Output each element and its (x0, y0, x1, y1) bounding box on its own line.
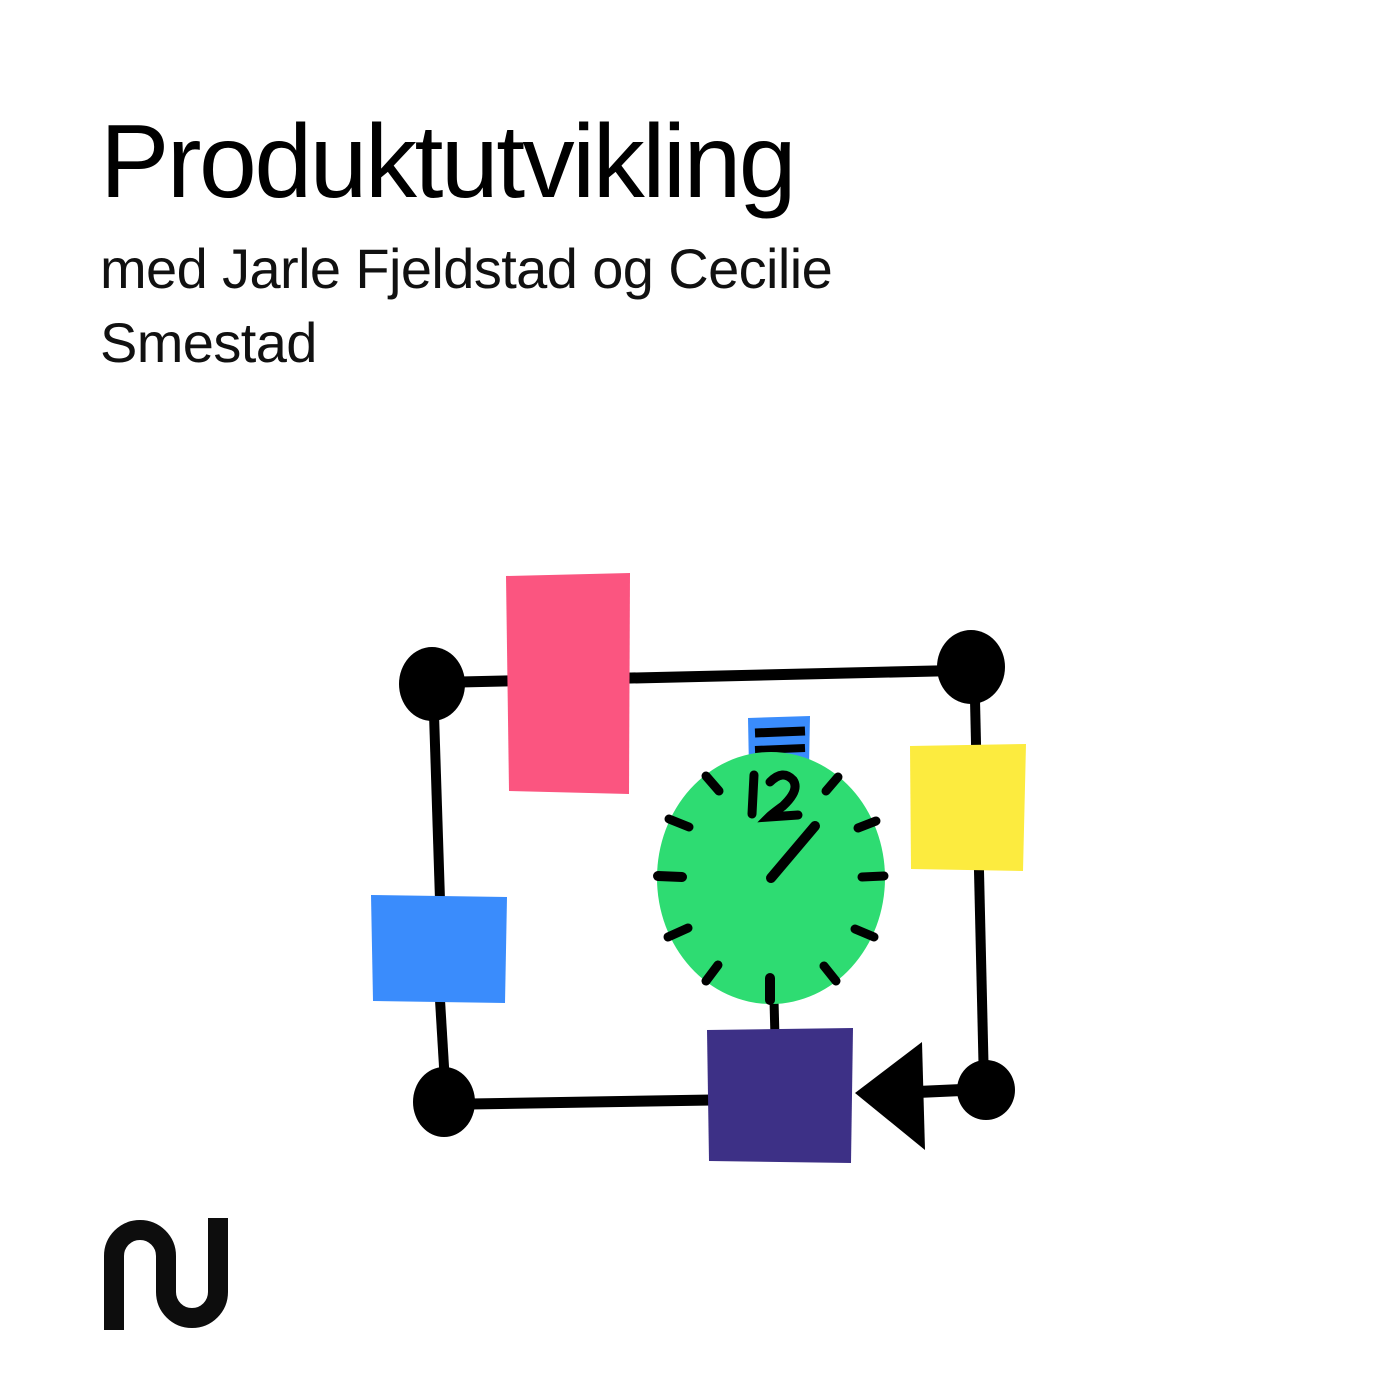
podcast-cover: Produktutvikling med Jarle Fjeldstad og … (0, 0, 1400, 1400)
cover-subtitle: med Jarle Fjeldstad og Cecilie Smestad (100, 232, 1060, 380)
pink-rectangle (506, 573, 630, 794)
edge-top-left-to-blue-square (434, 714, 440, 900)
yellow-rectangle (910, 744, 1026, 871)
node-bottom-left (413, 1067, 475, 1137)
abstract-network-clock-illustration (340, 540, 1060, 1200)
purple-square (707, 1028, 853, 1163)
clock-crown-bar-bottom (755, 748, 805, 750)
brand-logo (100, 1208, 230, 1340)
nu-monogram-path (114, 1218, 218, 1330)
cover-text-block: Produktutvikling med Jarle Fjeldstad og … (100, 106, 1100, 380)
clock-crown-bar-top (755, 731, 805, 733)
artwork-container (340, 540, 1060, 1200)
node-top-left (399, 647, 465, 721)
node-bottom-right (957, 1060, 1015, 1120)
left-pointing-arrowhead (855, 1042, 925, 1150)
page-title: Produktutvikling (100, 106, 1100, 218)
blue-square (371, 895, 507, 1003)
nu-monogram-logo (100, 1208, 230, 1340)
clock-tick-9 (658, 876, 682, 877)
edge-bottom-left-to-purple-square (470, 1100, 712, 1104)
clock-tick-3 (862, 876, 884, 877)
node-top-right (937, 630, 1005, 704)
clock-numeral-one (752, 775, 754, 814)
clock-group (657, 716, 885, 1004)
